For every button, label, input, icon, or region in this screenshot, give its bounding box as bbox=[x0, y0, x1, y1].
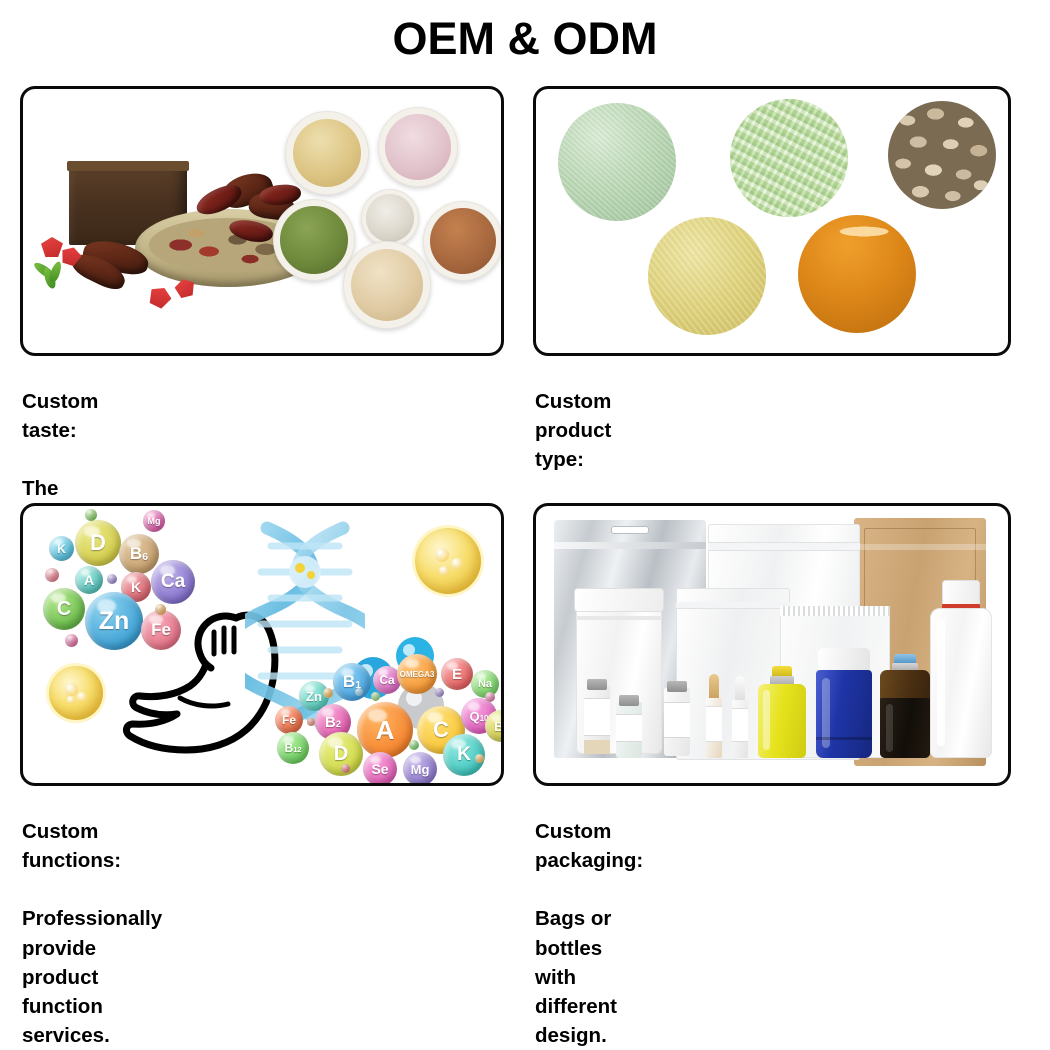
glass-ampoule bbox=[732, 676, 748, 758]
image-frame-custom-functions: K D B6 Mg Ca A K C Zn Fe bbox=[20, 503, 504, 786]
caption-body: Bags or bottles with different design. bbox=[535, 907, 617, 1046]
powder-bowl-cream bbox=[343, 241, 431, 329]
glass-ampoule bbox=[706, 674, 722, 758]
powder-bowl-pink bbox=[378, 107, 458, 187]
image-frame-custom-packaging bbox=[533, 503, 1011, 786]
product-type-image bbox=[536, 89, 1008, 353]
vitamin-dot bbox=[435, 688, 444, 697]
vitamin-bubble-B12: B12 bbox=[277, 732, 309, 764]
vitamin-bubble-B6: B6 bbox=[485, 710, 504, 742]
white-bottle-red-ring-cap bbox=[930, 580, 992, 758]
vitamin-dot bbox=[65, 634, 78, 647]
caption-heading: Custom product type: bbox=[535, 390, 611, 471]
vitamin-bubble-Se: Se bbox=[363, 752, 397, 786]
vitamin-bubble-OMEGA3: OMEGA3 bbox=[397, 654, 437, 694]
caption-heading: Custom packaging: bbox=[535, 820, 643, 872]
gel-capsule bbox=[415, 528, 481, 594]
vitamin-dot bbox=[307, 718, 315, 726]
powder-bowl-yellow bbox=[285, 111, 369, 195]
yellow-liquid-bottle bbox=[758, 666, 806, 758]
oem-odm-feature-page: OEM & ODM bbox=[0, 0, 1050, 900]
vitamin-bubble-Mg: Mg bbox=[143, 510, 165, 532]
dried-herbs-pile bbox=[65, 131, 187, 179]
vitamin-bubble-B1: B1 bbox=[333, 663, 371, 701]
amber-bottle-dark-liquid bbox=[880, 654, 930, 758]
page-title: OEM & ODM bbox=[0, 14, 1050, 64]
vitamin-bubble-Fe: Fe bbox=[275, 706, 303, 734]
vitamin-bubble-Mg: Mg bbox=[403, 752, 437, 786]
strawberry-piece bbox=[41, 237, 63, 257]
glass-vial bbox=[616, 702, 642, 758]
vitamin-dot bbox=[371, 692, 380, 701]
vitamin-bubble-E: E bbox=[441, 658, 473, 690]
powder-bowl-white bbox=[361, 189, 419, 247]
vitamin-dot bbox=[85, 509, 97, 521]
custom-functions-image: K D B6 Mg Ca A K C Zn Fe bbox=[23, 506, 501, 783]
vitamin-dot bbox=[341, 764, 350, 773]
vitamin-dot bbox=[323, 688, 333, 698]
vitamin-dot bbox=[475, 754, 484, 763]
blue-jar bbox=[816, 648, 872, 758]
strawberry-piece bbox=[146, 283, 175, 311]
sample-green-granules bbox=[730, 99, 848, 217]
green-leaf bbox=[48, 260, 64, 284]
glass-vial bbox=[584, 686, 610, 754]
caption-custom-functions: Custom functions: Professionally provide… bbox=[22, 788, 162, 1050]
vitamin-bubble-A: A bbox=[357, 702, 413, 758]
vitamin-bubble-B6: B6 bbox=[119, 534, 159, 574]
caption-body: Professionally provide product function … bbox=[22, 907, 162, 1046]
vitamin-dot bbox=[107, 574, 117, 584]
caption-custom-packaging: Custom packaging: Bags or bottles with d… bbox=[535, 788, 643, 1050]
gel-capsule bbox=[49, 666, 103, 720]
powder-bowl-green bbox=[273, 199, 355, 281]
vitamin-dot bbox=[409, 740, 419, 750]
sample-green-powder bbox=[558, 103, 676, 221]
packaging-image bbox=[536, 506, 1008, 783]
image-frame-custom-taste bbox=[20, 86, 504, 356]
vitamin-bubble-K: K bbox=[49, 536, 74, 561]
sample-orange-liquid bbox=[798, 215, 916, 333]
vitamin-bubble-A: A bbox=[75, 566, 103, 594]
caption-heading: Custom taste: bbox=[22, 390, 98, 442]
vitamin-dot bbox=[355, 688, 363, 696]
powder-bowl-brown bbox=[423, 201, 503, 281]
vitamin-bubble-C: C bbox=[43, 588, 85, 630]
image-frame-custom-product-type bbox=[533, 86, 1011, 356]
vitamin-bubble-D: D bbox=[75, 520, 121, 566]
sample-yellow-powder bbox=[648, 217, 766, 335]
sample-beige-tablets bbox=[888, 101, 996, 209]
vitamin-dot bbox=[45, 568, 59, 582]
vitamin-dot bbox=[485, 692, 495, 702]
herbal-ingredients-image bbox=[23, 89, 501, 353]
caption-heading: Custom functions: bbox=[22, 820, 121, 872]
vitamin-bubble-Ca: Ca bbox=[151, 560, 195, 604]
glass-vial bbox=[664, 688, 690, 756]
